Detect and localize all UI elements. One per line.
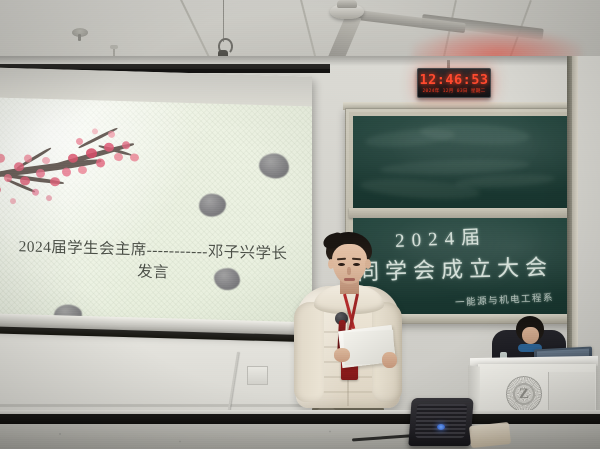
- presenter-eye-right: [353, 263, 360, 266]
- presenter-hand-right: [382, 352, 397, 368]
- seated-operator-face: [522, 327, 539, 344]
- hanging-cable: [223, 0, 224, 42]
- presenter-ear-right: [365, 259, 371, 269]
- emblem-character: Z: [519, 387, 529, 402]
- photo-scene: 2024届学生会主席-----------邓子兴学长 发言 2024届 同学会成…: [0, 0, 600, 449]
- clock-date-display: 2024年 12月 03日 星期二: [418, 88, 490, 94]
- blackboard-divider-rail: [349, 208, 572, 218]
- wall-outlet-plate: [247, 366, 268, 385]
- presenter-hand-left: [334, 348, 350, 362]
- led-clock: 12:46:53 2024年 12月 03日 星期二: [417, 68, 491, 98]
- chalk-text-year: 2024届: [394, 222, 487, 253]
- presenter-nose: [347, 267, 351, 275]
- speaker-power-led: [437, 424, 445, 430]
- projection-screen: 2024届学生会主席-----------邓子兴学长 发言: [0, 68, 312, 337]
- lower-wall-line: [0, 404, 345, 407]
- presenter-sleeve-left: [294, 302, 324, 402]
- clock-time-display: 12:46:53: [418, 72, 490, 88]
- slide-vignette: [0, 98, 312, 337]
- speaker-grill: [415, 404, 467, 438]
- fire-sprinkler-icon: [72, 28, 88, 37]
- presenter-eye-left: [338, 263, 345, 266]
- school-emblem-icon: Z: [506, 376, 542, 412]
- presenter-ear-left: [328, 259, 334, 269]
- presenter-mouth: [344, 278, 355, 281]
- ceiling-fan-cap: [337, 0, 357, 8]
- presentation-slide: 2024届学生会主席-----------邓子兴学长 发言: [0, 98, 312, 337]
- floor-object: [469, 422, 511, 448]
